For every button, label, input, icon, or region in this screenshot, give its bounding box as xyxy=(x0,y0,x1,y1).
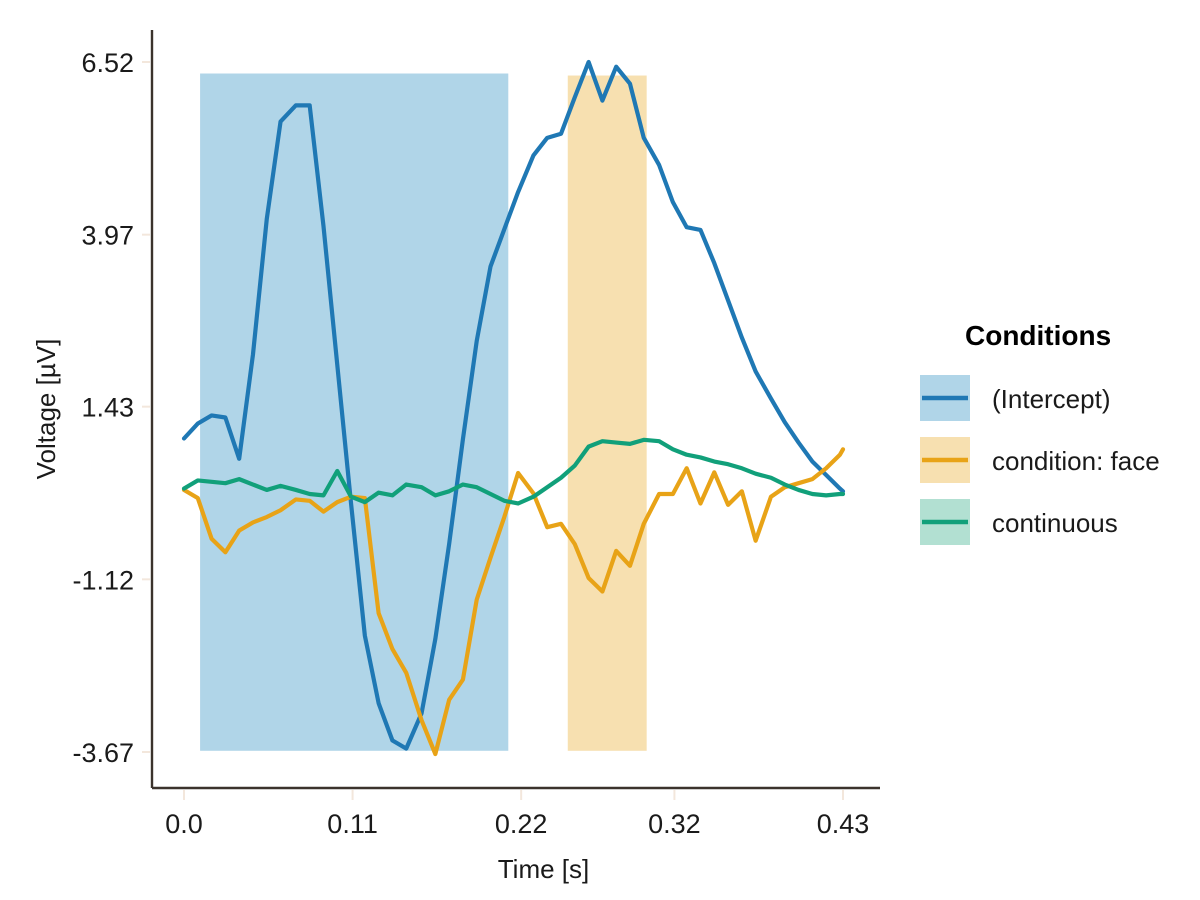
legend: Conditions(Intercept)condition: facecont… xyxy=(920,320,1160,545)
chart-root: -3.67-1.121.433.976.520.00.110.220.320.4… xyxy=(0,0,1200,900)
legend-item-3[interactable]: continuous xyxy=(920,499,1118,545)
y-tick-label: 6.52 xyxy=(81,48,134,78)
y-tick-label: -1.12 xyxy=(72,565,134,595)
x-tick-label: 0.32 xyxy=(648,809,701,839)
legend-item-label: continuous xyxy=(992,508,1118,538)
highlight-bands-layer xyxy=(200,74,647,751)
y-tick-label: 3.97 xyxy=(81,221,134,251)
legend-item-label: condition: face xyxy=(992,446,1160,476)
legend-item-2[interactable]: condition: face xyxy=(920,437,1160,483)
erp-line-chart: -3.67-1.121.433.976.520.00.110.220.320.4… xyxy=(0,0,1200,900)
x-axis-title: Time [s] xyxy=(498,854,589,884)
legend-title: Conditions xyxy=(965,320,1111,351)
legend-item-1[interactable]: (Intercept) xyxy=(920,375,1111,421)
face-significance-band xyxy=(568,76,647,751)
y-axis-title: Voltage [µV] xyxy=(31,339,61,480)
legend-item-label: (Intercept) xyxy=(992,384,1111,414)
x-tick-label: 0.22 xyxy=(495,809,548,839)
x-tick-label: 0.0 xyxy=(165,809,203,839)
x-tick-label: 0.11 xyxy=(327,809,378,839)
x-tick-label: 0.43 xyxy=(817,809,870,839)
y-tick-label: -3.67 xyxy=(72,738,134,768)
y-tick-label: 1.43 xyxy=(81,393,134,423)
